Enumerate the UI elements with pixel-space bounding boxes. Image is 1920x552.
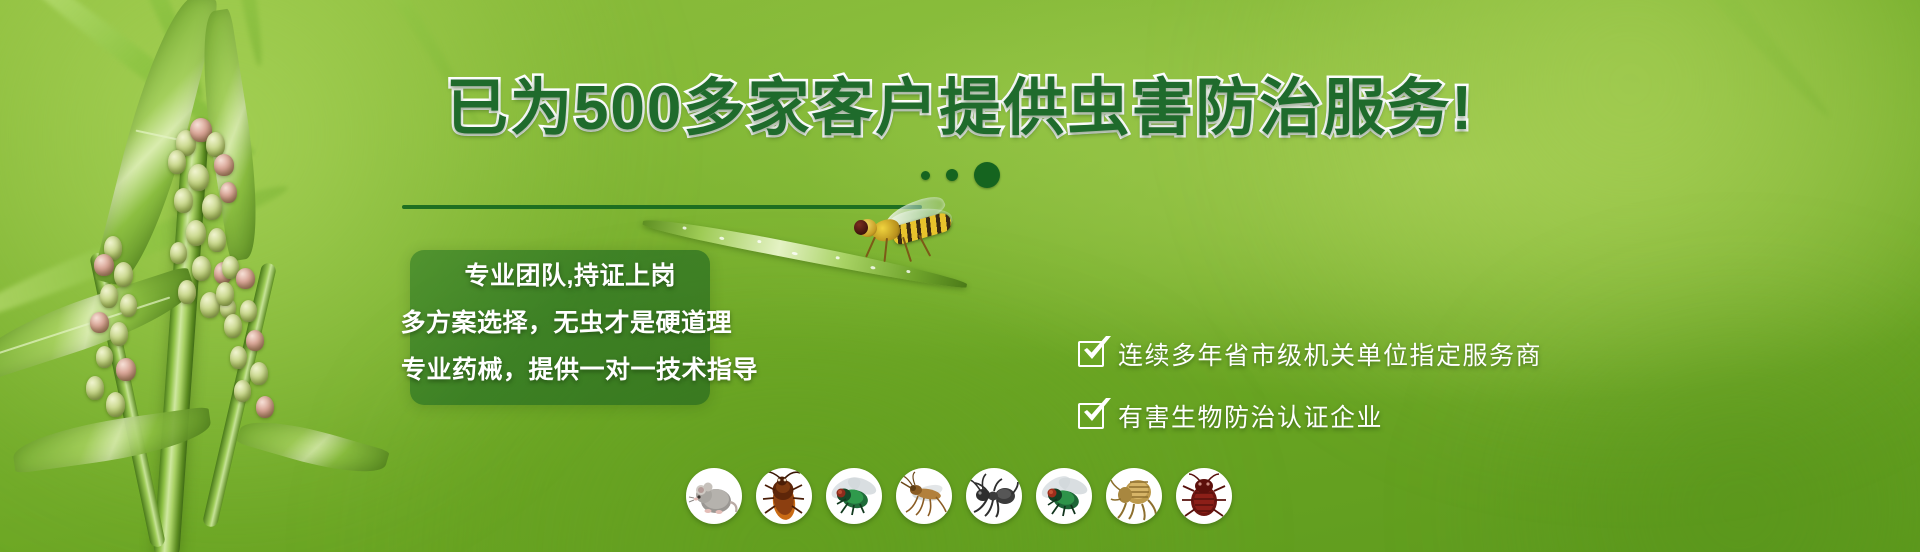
feature-line-1: 专业团队,持证上岗	[465, 256, 758, 292]
list-item: 连续多年省市级机关单位指定服务商	[1078, 336, 1542, 372]
checkbox-checked-icon	[1078, 341, 1104, 367]
bedbug-icon[interactable]: 臭虫	[1176, 468, 1232, 524]
green-fly-icon[interactable]: 绿头蝇	[826, 468, 882, 524]
divider-dot-small	[921, 171, 930, 180]
mouse-icon[interactable]: 鼠	[686, 468, 742, 524]
checklist-item-label: 有害生物防治认证企业	[1118, 398, 1383, 434]
flea-icon[interactable]: 跳蚤	[1106, 468, 1162, 524]
pest-icon-row: 鼠 蟑螂	[686, 468, 1232, 524]
hoverfly-eye	[854, 220, 868, 235]
cockroach-icon[interactable]: 蟑螂	[756, 468, 812, 524]
divider-dots	[0, 162, 1920, 188]
feature-panel-lines: 专业团队,持证上岗 多方案选择，无虫才是硬道理 专业药械，提供一对一技术指导	[338, 256, 758, 386]
hoverfly-icon	[840, 195, 970, 265]
feature-line-2: 多方案选择，无虫才是硬道理	[400, 303, 758, 339]
page-title: 已为500多家客户提供虫害防治服务!	[0, 78, 1920, 140]
checkbox-checked-icon	[1078, 403, 1104, 429]
divider-dot-medium	[946, 169, 958, 181]
promo-banner: 已为500多家客户提供虫害防治服务! 专业团队,持证上岗 多方案选择，无虫才是硬…	[0, 0, 1920, 552]
feature-line-3: 专业药械，提供一对一技术指导	[401, 350, 758, 386]
checklist-item-label: 连续多年省市级机关单位指定服务商	[1118, 336, 1542, 372]
blowfly-icon[interactable]: 苍蝇	[1036, 468, 1092, 524]
page-title-text: 已为500多家客户提供虫害防治服务!	[446, 74, 1474, 143]
plant-leaf	[236, 410, 390, 484]
checklist: 连续多年省市级机关单位指定服务商 有害生物防治认证企业	[1078, 336, 1542, 434]
check-mark-icon	[1082, 397, 1112, 425]
list-item: 有害生物防治认证企业	[1078, 398, 1542, 434]
ant-icon[interactable]: 蚂蚁	[966, 468, 1022, 524]
check-mark-icon	[1082, 335, 1112, 363]
divider-dot-large	[974, 162, 1000, 188]
mosquito-icon[interactable]: 蚊	[896, 468, 952, 524]
